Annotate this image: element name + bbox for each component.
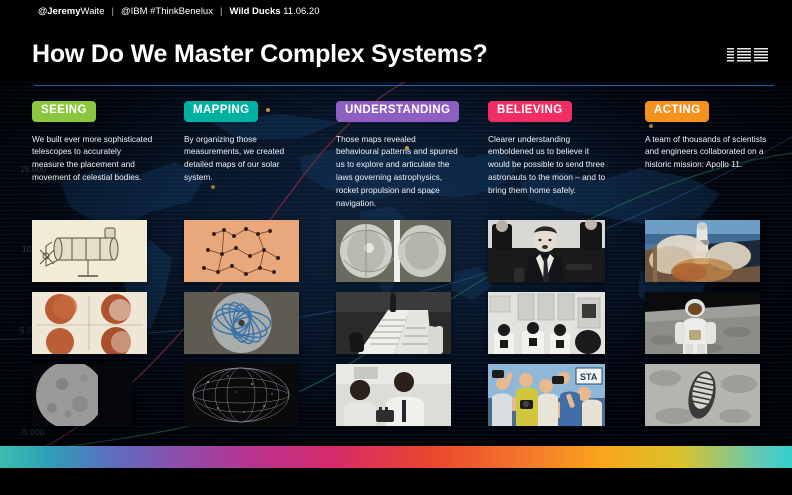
footer-separator-2: | [220, 6, 222, 17]
badge-acting[interactable]: ACTING [645, 101, 709, 122]
spectator-crowd-image[interactable]: STA [488, 364, 605, 426]
svg-text:STA: STA [580, 372, 598, 382]
column-understanding: UNDERSTANDING Those maps revealed behavi… [336, 100, 488, 210]
column-seeing: SEEING We built ever more sophisticated … [32, 100, 184, 184]
ibm-logo-letter-i [727, 48, 734, 63]
telescope-engraving-image[interactable] [32, 220, 147, 282]
footer-handle-bold: @Jeremy [38, 6, 81, 17]
rocket-launch-image[interactable] [645, 220, 760, 282]
engineers-desk-image[interactable] [336, 364, 451, 426]
footer-handle[interactable]: @JeremyWaite [38, 6, 104, 17]
column-mapping: MAPPING By organizing those measurements… [184, 100, 336, 184]
mission-control-image[interactable] [488, 292, 605, 354]
badge-mapping[interactable]: MAPPING [184, 101, 258, 122]
badge-believing[interactable]: BELIEVING [488, 101, 572, 122]
ibm-logo-letter-m [754, 48, 768, 63]
radio-dish-image[interactable] [336, 220, 451, 282]
footer-handle-rest: Waite [81, 6, 105, 17]
ibm-logo-letter-b [737, 48, 751, 63]
column-acting: ACTING A team of thousands of scientists… [645, 100, 792, 171]
blurb-believing: Clearer understanding emboldened us to b… [488, 133, 610, 197]
blurb-acting: A team of thousands of scientists and en… [645, 133, 767, 172]
footer-mention[interactable]: @IBM #ThinkBenelux [121, 6, 213, 17]
footer-separator-1: | [111, 6, 113, 17]
moon-bootprint-image[interactable] [645, 364, 760, 426]
moon-photograph-image[interactable] [32, 364, 132, 426]
footer-event: Wild Ducks 11.06.20 [229, 6, 319, 17]
star-trails-image[interactable] [184, 364, 299, 426]
footer-gradient-bar [0, 446, 792, 468]
star-chart-image[interactable] [184, 220, 299, 282]
badge-understanding[interactable]: UNDERSTANDING [336, 101, 459, 122]
orrery-spiral-image[interactable] [184, 292, 299, 354]
image-grid: STA [0, 215, 792, 440]
axis-rule [34, 85, 774, 86]
mars-sketches-image[interactable] [32, 292, 147, 354]
blurb-mapping: By organizing those measurements, we cre… [184, 133, 306, 184]
floor-equations-image[interactable] [336, 292, 451, 354]
astronaut-moon-image[interactable] [645, 292, 760, 354]
footer-event-date: 11.06.20 [283, 6, 319, 17]
column-believing: BELIEVING Clearer understanding embolden… [488, 100, 640, 197]
footer-backdrop [0, 468, 792, 495]
jfk-speech-image[interactable] [488, 220, 605, 282]
blurb-seeing: We built ever more sophisticated telesco… [32, 133, 154, 184]
footer-event-name: Wild Ducks [229, 6, 280, 17]
slide-canvas: 20.000 15.000 10.000 5.000 -5.000 How Do… [0, 0, 792, 495]
blurb-understanding: Those maps revealed behavioural patterns… [336, 133, 458, 210]
badge-seeing[interactable]: SEEING [32, 101, 96, 122]
footer-credits: @JeremyWaite | @IBM #ThinkBenelux | Wild… [38, 0, 320, 22]
page-title: How Do We Master Complex Systems? [32, 40, 488, 69]
ibm-logo [727, 48, 768, 63]
